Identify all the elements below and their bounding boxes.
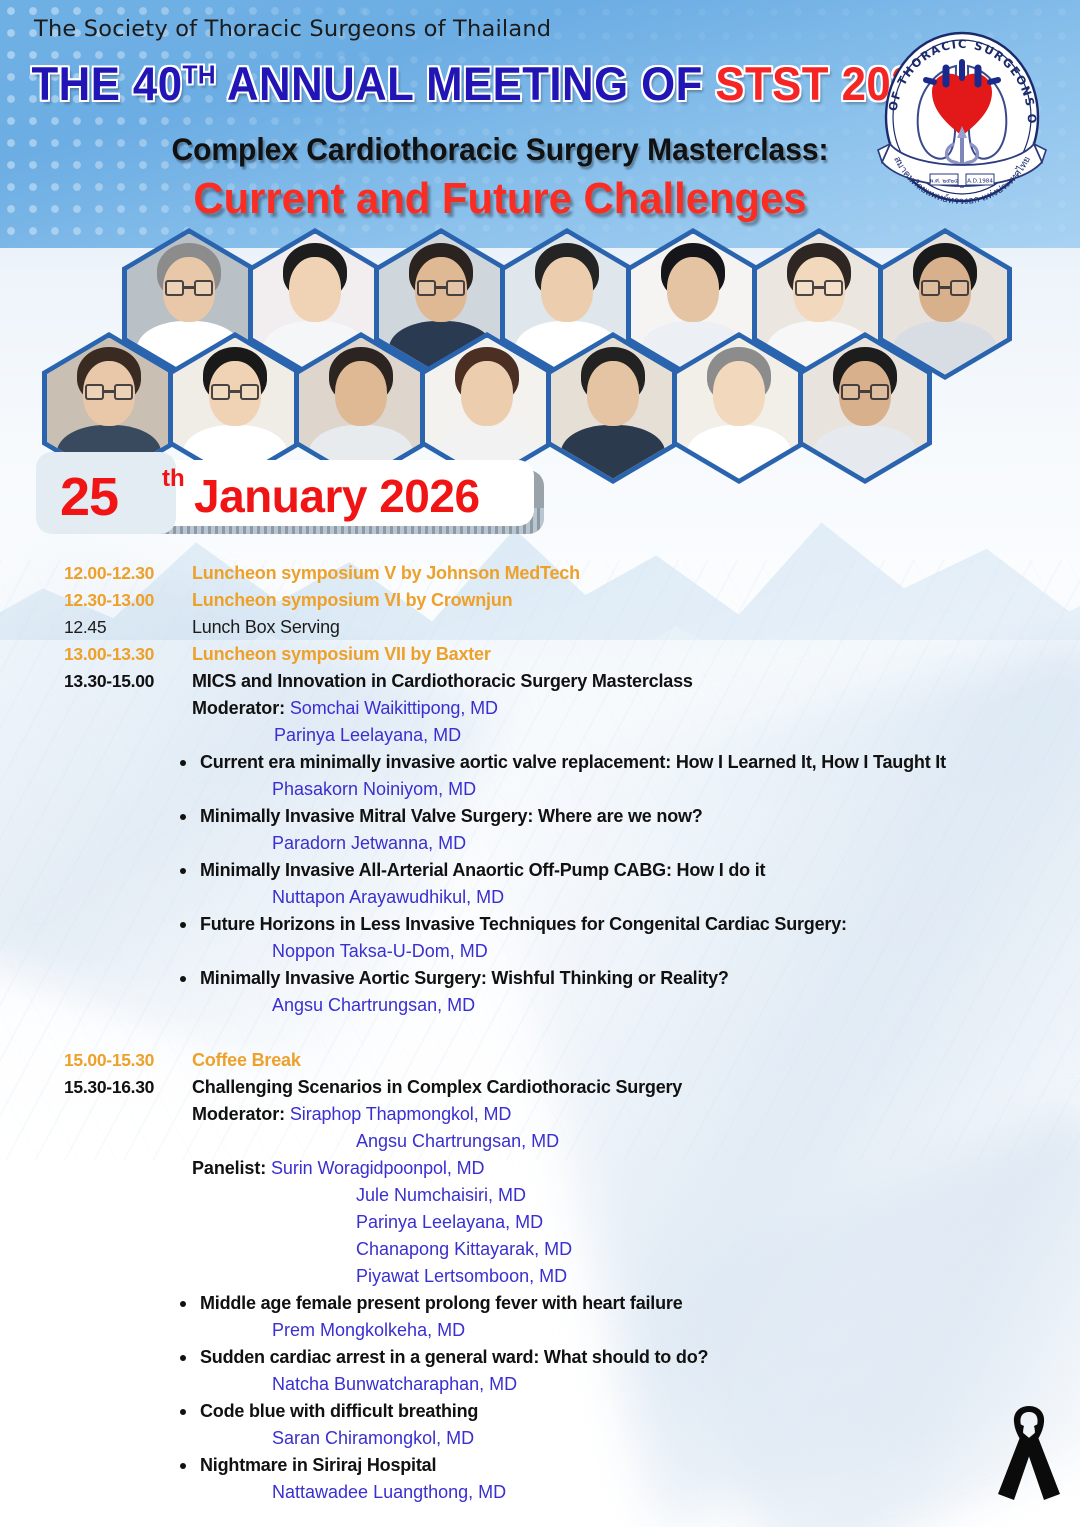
schedule-time: 15.30-16.30 [64, 1074, 192, 1101]
schedule-row: 15.30-16.30Challenging Scenarios in Comp… [0, 1074, 1080, 1101]
topic-speaker: Natcha Bunwatcharaphan, MD [272, 1371, 1080, 1398]
role-label: Moderator: [192, 1104, 290, 1124]
topic-title: Code blue with difficult breathing [200, 1398, 1080, 1425]
society-name: The Society of Thoracic Surgeons of Thai… [34, 16, 551, 42]
session-topic: Minimally Invasive All-Arterial Anaortic… [180, 857, 1080, 884]
portrait-image [677, 338, 801, 479]
session-topic: Minimally Invasive Mitral Valve Surgery:… [180, 803, 1080, 830]
schedule-row: 12.30-13.00Luncheon symposium VI by Crow… [0, 587, 1080, 614]
portrait-image [299, 338, 423, 479]
bullet-icon [180, 1355, 186, 1361]
portrait-image [173, 338, 297, 479]
portrait-image [883, 234, 1007, 375]
topic-title: Minimally Invasive All-Arterial Anaortic… [200, 857, 1080, 884]
role-label: Panelist: [192, 1158, 271, 1178]
session-topic: Code blue with difficult breathing [180, 1398, 1080, 1425]
session-topic: Current era minimally invasive aortic va… [180, 749, 1080, 776]
topic-speaker: Saran Chiramongkol, MD [272, 1425, 1080, 1452]
topic-title: Nightmare in Siriraj Hospital [200, 1452, 1080, 1479]
schedule-list: 12.00-12.30Luncheon symposium V by Johns… [0, 560, 1080, 1520]
schedule-time: 12.45 [64, 614, 192, 641]
topic-speaker: Nuttapon Arayawudhikul, MD [272, 884, 1080, 911]
schedule-title: Challenging Scenarios in Complex Cardiot… [192, 1074, 682, 1101]
person-name: Piyawat Lertsomboon, MD [356, 1263, 1080, 1290]
topic-speaker: Paradorn Jetwanna, MD [272, 830, 1080, 857]
bullet-icon [180, 976, 186, 982]
topic-speaker: Nattawadee Luangthong, MD [272, 1479, 1080, 1506]
poster-subtitle: Complex Cardiothoracic Surgery Mastercla… [25, 131, 975, 168]
schedule-title: Luncheon symposium V by Johnson MedTech [192, 560, 580, 587]
schedule-row: 12.00-12.30Luncheon symposium V by Johns… [0, 560, 1080, 587]
logo-year-ad: A.D.1984 [967, 179, 993, 185]
date-banner: 25 th January 2026 [44, 460, 534, 530]
topic-title: Sudden cardiac arrest in a general ward:… [200, 1344, 1080, 1371]
schedule-title: MICS and Innovation in Cardiothoracic Su… [192, 668, 693, 695]
person-name: Chanapong Kittayarak, MD [356, 1236, 1080, 1263]
topic-speaker: Phasakorn Noiniyom, MD [272, 776, 1080, 803]
bullet-icon [180, 814, 186, 820]
session-topic: Middle age female present prolong fever … [180, 1290, 1080, 1317]
bullet-icon [180, 922, 186, 928]
person-name: Parinya Leelayana, MD [356, 1209, 1080, 1236]
schedule-row: 12.45Lunch Box Serving [0, 614, 1080, 641]
schedule-row: 13.30-15.00MICS and Innovation in Cardio… [0, 668, 1080, 695]
title-part-1: THE 40 [32, 57, 183, 110]
bullet-icon [180, 1463, 186, 1469]
logo-year-thai: พ.ศ. ๒๕๒๔ [930, 178, 958, 185]
portrait-image [425, 338, 549, 479]
topic-title: Minimally Invasive Mitral Valve Surgery:… [200, 803, 1080, 830]
topic-title: Current era minimally invasive aortic va… [200, 749, 1080, 776]
title-ordinal: TH [182, 59, 216, 89]
date-ordinal: th [162, 465, 185, 493]
schedule-title: Lunch Box Serving [192, 614, 340, 641]
schedule-time: 12.30-13.00 [64, 587, 192, 614]
speaker-portrait-grid [0, 224, 1080, 468]
bullet-icon [180, 760, 186, 766]
topic-speaker: Noppon Taksa-U-Dom, MD [272, 938, 1080, 965]
topic-title: Minimally Invasive Aortic Surgery: Wishf… [200, 965, 1080, 992]
portrait-image [803, 338, 927, 479]
portrait-image [551, 338, 675, 479]
person-name: Parinya Leelayana, MD [274, 722, 1080, 749]
schedule-spacer [0, 1019, 1080, 1047]
person-name: Somchai Waikittipong, MD [290, 698, 498, 718]
session-topic: Sudden cardiac arrest in a general ward:… [180, 1344, 1080, 1371]
topic-title: Future Horizons in Less Invasive Techniq… [200, 911, 1080, 938]
title-part-2: ANNUAL MEETING OF [216, 57, 715, 110]
schedule-time: 13.00-13.30 [64, 641, 192, 668]
schedule-time: 15.00-15.30 [64, 1047, 192, 1074]
schedule-time: 12.00-12.30 [64, 560, 192, 587]
topic-title: Middle age female present prolong fever … [200, 1290, 1080, 1317]
schedule-role-line: Moderator: Somchai Waikittipong, MD [192, 695, 1080, 722]
schedule-role-line: Moderator: Siraphop Thapmongkol, MD [192, 1101, 1080, 1128]
bullet-icon [180, 1301, 186, 1307]
role-label: Moderator: [192, 698, 290, 718]
bullet-icon [180, 1409, 186, 1415]
topic-speaker: Prem Mongkolkeha, MD [272, 1317, 1080, 1344]
page-title: THE 40TH ANNUAL MEETING OF STST 2026 [32, 56, 869, 111]
person-name: Angsu Chartrungsan, MD [356, 1128, 1080, 1155]
session-topic: Future Horizons in Less Invasive Techniq… [180, 911, 1080, 938]
session-topic: Minimally Invasive Aortic Surgery: Wishf… [180, 965, 1080, 992]
schedule-time: 13.30-15.00 [64, 668, 192, 695]
schedule-spacer [0, 1506, 1080, 1527]
person-name: Jule Numchaisiri, MD [356, 1182, 1080, 1209]
conference-poster: The Society of Thoracic Surgeons of Thai… [0, 0, 1080, 1527]
bullet-icon [180, 868, 186, 874]
schedule-title: Luncheon symposium VII by Baxter [192, 641, 491, 668]
person-name: Siraphop Thapmongkol, MD [290, 1104, 511, 1124]
date-month-year: January 2026 [194, 469, 480, 523]
poster-subtitle-theme: Current and Future Challenges [25, 174, 975, 224]
schedule-title: Coffee Break [192, 1047, 301, 1074]
schedule-row: 13.00-13.30Luncheon symposium VII by Bax… [0, 641, 1080, 668]
topic-speaker: Angsu Chartrungsan, MD [272, 992, 1080, 1019]
schedule-title: Luncheon symposium VI by Crownjun [192, 587, 512, 614]
person-name: Surin Woragidpoonpol, MD [271, 1158, 484, 1178]
schedule-role-line: Panelist: Surin Woragidpoonpol, MD [192, 1155, 1080, 1182]
society-seal-icon: พ.ศ. ๒๕๒๔ A.D.1984 THE SOCIETY OF THORAC… [874, 22, 1050, 208]
schedule-row: 15.00-15.30Coffee Break [0, 1047, 1080, 1074]
session-topic: Nightmare in Siriraj Hospital [180, 1452, 1080, 1479]
black-ribbon-icon [990, 1398, 1068, 1504]
